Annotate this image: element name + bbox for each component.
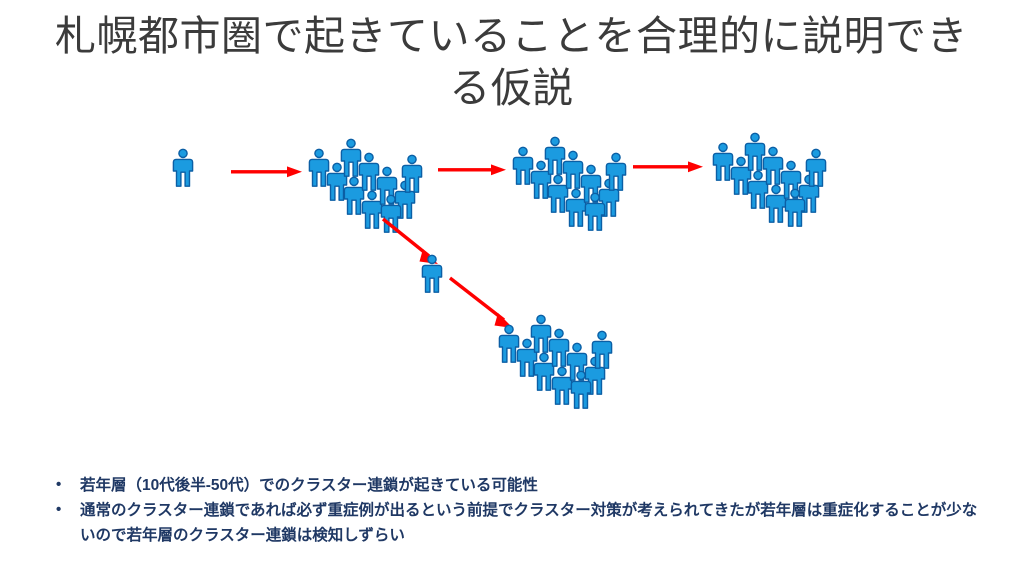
page-title: 札幌都市圏で起きていることを合理的に説明できる仮説	[46, 10, 977, 115]
person-icon	[605, 152, 627, 192]
arrow-icon-right	[231, 165, 303, 179]
arrow-icon-right	[438, 163, 510, 177]
people-cluster	[506, 128, 636, 223]
list-item: • 若年層（10代後半-50代）でのクラスター連鎖が起きている可能性	[52, 473, 992, 498]
person-icon	[805, 148, 827, 188]
transmission-chain-diagram	[0, 118, 1023, 418]
person-icon	[784, 188, 806, 228]
bullet-list: • 若年層（10代後半-50代）でのクラスター連鎖が起きている可能性 • 通常の…	[52, 473, 992, 548]
arrow-icon-right	[633, 160, 711, 174]
bullet-marker: •	[52, 473, 80, 497]
person-icon	[570, 370, 592, 410]
bullet-text: 若年層（10代後半-50代）でのクラスター連鎖が起きている可能性	[80, 473, 992, 498]
person-icon	[584, 192, 606, 232]
person-icon	[591, 330, 613, 370]
person-icon	[401, 154, 423, 194]
people-cluster	[492, 306, 622, 401]
slide-canvas: 札幌都市圏で起きていることを合理的に説明できる仮説	[0, 0, 1023, 572]
people-cluster	[706, 124, 836, 219]
arrow-icon-diagonal	[382, 218, 454, 278]
person-icon	[421, 254, 443, 294]
people-cluster	[302, 130, 432, 225]
list-item: • 通常のクラスター連鎖であれば必ず重症例が出るという前提でクラスター対策が考え…	[52, 498, 992, 548]
bullet-marker: •	[52, 498, 80, 522]
person-icon	[172, 148, 194, 188]
bullet-text: 通常のクラスター連鎖であれば必ず重症例が出るという前提でクラスター対策が考えられ…	[80, 498, 992, 548]
